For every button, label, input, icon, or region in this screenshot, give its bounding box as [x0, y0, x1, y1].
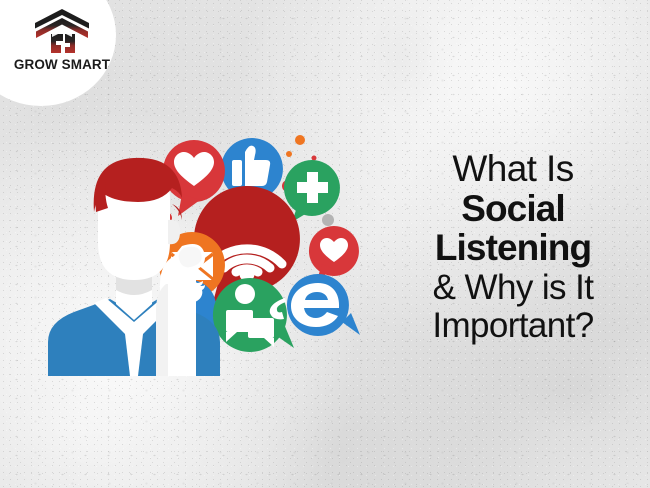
brand-name: GROW SMART: [14, 57, 110, 72]
dot-orange-icon: [286, 151, 292, 157]
dot-orange-icon: [295, 135, 305, 145]
headline-line-3: Listening: [395, 229, 631, 267]
headline-line-1: What Is: [395, 150, 631, 188]
heart-small-icon: [309, 226, 359, 280]
brand-logo[interactable]: GROW SMART: [8, 8, 116, 80]
poster-canvas: GROW SMART: [0, 0, 650, 488]
headline-line-4: & Why is It: [395, 270, 631, 306]
chevron-house-gs-monogram-icon: [32, 8, 92, 54]
dot-red-icon: [312, 156, 317, 161]
dot-gray-icon: [322, 214, 334, 226]
headline-line-5: Important?: [395, 308, 631, 344]
illustration-man-listening: [42, 128, 372, 378]
headline-line-2: Social: [395, 190, 631, 228]
headline-block: What Is Social Listening & Why is It Imp…: [395, 150, 631, 344]
